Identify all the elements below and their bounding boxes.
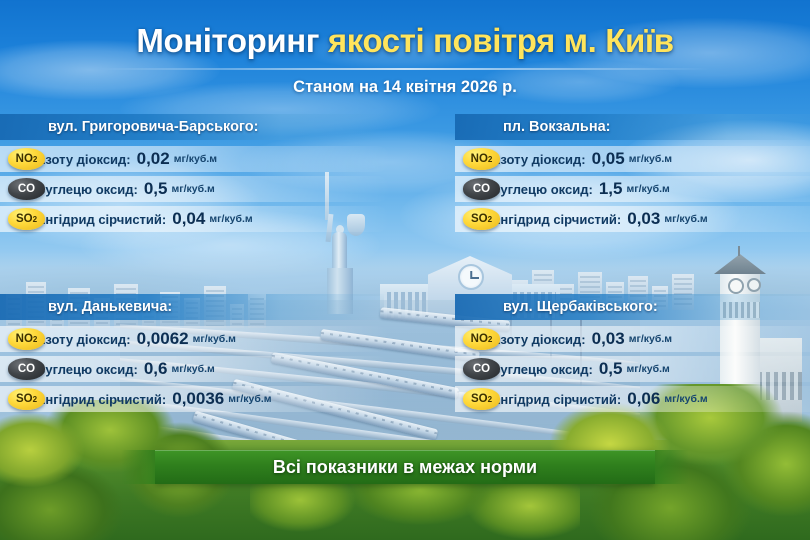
no2-badge: NO2 [463, 328, 500, 350]
station-block-shcherbakivskoho: вул. Щербаківського: NO2 Азоту діоксид: … [455, 294, 810, 416]
tower-clock-icon [747, 278, 761, 292]
pollutant-unit: мг/куб.м [664, 213, 707, 225]
pollutant-unit: мг/куб.м [629, 153, 672, 165]
title-part-white: Моніторинг [136, 22, 319, 59]
pollutant-value: 0,5 [144, 179, 168, 199]
badge-subscript: 2 [488, 335, 492, 344]
station-name-label: вул. Щербаківського: [503, 299, 658, 315]
badge-symbol: SO [16, 393, 33, 405]
pollutant-value: 0,0062 [137, 329, 189, 349]
pollutant-unit: мг/куб.м [171, 363, 214, 375]
pollutant-value: 0,5 [599, 359, 623, 379]
measurement-row: NO2 Азоту діоксид: 0,02 мг/куб.м [0, 146, 390, 172]
pollutant-value: 1,5 [599, 179, 623, 199]
tower-clock-icon [728, 278, 744, 294]
station-name-label: пл. Вокзальна: [503, 119, 610, 135]
title-divider [100, 68, 710, 70]
station-name-header: пл. Вокзальна: [455, 114, 810, 140]
badge-subscript: 2 [33, 395, 37, 404]
pollutant-label: Ангідрид сірчистий: [491, 212, 621, 227]
pollutant-unit: мг/куб.м [664, 393, 707, 405]
pollutant-label: Азоту діоксид: [36, 152, 131, 167]
so2-badge: SO2 [463, 388, 500, 410]
co-badge: CO [463, 178, 500, 200]
measurement-list: NO2 Азоту діоксид: 0,02 мг/куб.м CO Вугл… [0, 146, 390, 232]
measurement-row: NO2 Азоту діоксид: 0,0062 мг/куб.м [0, 326, 390, 352]
pollutant-label: Азоту діоксид: [491, 332, 586, 347]
status-banner: Всі показники в межах норми [155, 450, 655, 484]
pollutant-unit: мг/куб.м [193, 333, 236, 345]
pollutant-label: Азоту діоксид: [36, 332, 131, 347]
badge-symbol: NO [471, 153, 488, 165]
measurement-row: SO2 Ангідрид сірчистий: 0,06 мг/куб.м [455, 386, 810, 412]
subtitle-date: Станом на 14 квітня 2026 р. [0, 78, 810, 97]
co-badge: CO [463, 358, 500, 380]
station-clock-icon [458, 264, 484, 290]
pollutant-value: 0,05 [592, 149, 625, 169]
pollutant-value: 0,0036 [172, 389, 224, 409]
badge-symbol: SO [471, 213, 488, 225]
title-part-highlight: якості повітря м. Київ [328, 22, 674, 59]
measurement-row: CO Вуглецю оксид: 0,6 мг/куб.м [0, 356, 390, 382]
badge-symbol: NO [16, 153, 33, 165]
no2-badge: NO2 [8, 328, 45, 350]
pollutant-unit: мг/куб.м [228, 393, 271, 405]
co-badge: CO [8, 178, 45, 200]
badge-subscript: 2 [488, 215, 492, 224]
pollutant-unit: мг/куб.м [174, 153, 217, 165]
so2-badge: SO2 [463, 208, 500, 230]
measurement-row: CO Вуглецю оксид: 0,5 мг/куб.м [0, 176, 390, 202]
pollutant-unit: мг/куб.м [209, 213, 252, 225]
measurement-list: NO2 Азоту діоксид: 0,05 мг/куб.м CO Вугл… [455, 146, 810, 232]
station-name-header: вул. Данькевича: [0, 294, 390, 320]
badge-subscript: 2 [488, 395, 492, 404]
pollutant-label: Ангідрид сірчистий: [491, 392, 621, 407]
badge-subscript: 2 [488, 155, 492, 164]
badge-subscript: 2 [33, 155, 37, 164]
pollutant-value: 0,04 [172, 209, 205, 229]
no2-badge: NO2 [8, 148, 45, 170]
pollutant-value: 0,03 [627, 209, 660, 229]
pollutant-unit: мг/куб.м [171, 183, 214, 195]
measurement-row: SO2 Ангідрид сірчистий: 0,04 мг/куб.м [0, 206, 390, 232]
status-banner-label: Всі показники в межах норми [273, 457, 537, 478]
pollutant-label: Вуглецю оксид: [491, 182, 593, 197]
badge-symbol: CO [18, 183, 35, 195]
station-name-header: вул. Щербаківського: [455, 294, 810, 320]
badge-symbol: NO [471, 333, 488, 345]
station-block-vokzalna: пл. Вокзальна: NO2 Азоту діоксид: 0,05 м… [455, 114, 810, 236]
pollutant-label: Вуглецю оксид: [491, 362, 593, 377]
pollutant-value: 0,03 [592, 329, 625, 349]
pollutant-label: Ангідрид сірчистий: [36, 212, 166, 227]
badge-subscript: 2 [33, 335, 37, 344]
measurement-list: NO2 Азоту діоксид: 0,03 мг/куб.м CO Вугл… [455, 326, 810, 412]
pollutant-label: Азоту діоксид: [491, 152, 586, 167]
badge-symbol: SO [16, 213, 33, 225]
pollutant-value: 0,6 [144, 359, 168, 379]
so2-badge: SO2 [8, 208, 45, 230]
badge-symbol: CO [18, 363, 35, 375]
measurement-list: NO2 Азоту діоксид: 0,0062 мг/куб.м CO Ву… [0, 326, 390, 412]
station-block-hryhorovycha-barskoho: вул. Григоровича-Барського: NO2 Азоту ді… [0, 114, 390, 236]
page-title: Моніторинг якості повітря м. Київ [0, 22, 810, 60]
station-block-dankevycha: вул. Данькевича: NO2 Азоту діоксид: 0,00… [0, 294, 390, 416]
pollutant-label: Вуглецю оксид: [36, 362, 138, 377]
measurement-row: CO Вуглецю оксид: 0,5 мг/куб.м [455, 356, 810, 382]
station-name-label: вул. Григоровича-Барського: [48, 119, 258, 135]
pollutant-label: Ангідрид сірчистий: [36, 392, 166, 407]
co-badge: CO [8, 358, 45, 380]
badge-symbol: SO [471, 393, 488, 405]
measurement-row: CO Вуглецю оксид: 1,5 мг/куб.м [455, 176, 810, 202]
badge-subscript: 2 [33, 215, 37, 224]
pollutant-unit: мг/куб.м [626, 183, 669, 195]
pollutant-unit: мг/куб.м [629, 333, 672, 345]
so2-badge: SO2 [8, 388, 45, 410]
measurement-row: NO2 Азоту діоксид: 0,03 мг/куб.м [455, 326, 810, 352]
measurement-row: SO2 Ангідрид сірчистий: 0,03 мг/куб.м [455, 206, 810, 232]
measurement-row: NO2 Азоту діоксид: 0,05 мг/куб.м [455, 146, 810, 172]
badge-symbol: CO [473, 363, 490, 375]
station-name-label: вул. Данькевича: [48, 299, 172, 315]
badge-symbol: NO [16, 333, 33, 345]
pollutant-label: Вуглецю оксид: [36, 182, 138, 197]
pollutant-value: 0,06 [627, 389, 660, 409]
infographic-poster: Моніторинг якості повітря м. Київ Станом… [0, 0, 810, 540]
badge-symbol: CO [473, 183, 490, 195]
pollutant-unit: мг/куб.м [626, 363, 669, 375]
no2-badge: NO2 [463, 148, 500, 170]
measurement-row: SO2 Ангідрид сірчистий: 0,0036 мг/куб.м [0, 386, 390, 412]
pollutant-value: 0,02 [137, 149, 170, 169]
station-name-header: вул. Григоровича-Барського: [0, 114, 390, 140]
